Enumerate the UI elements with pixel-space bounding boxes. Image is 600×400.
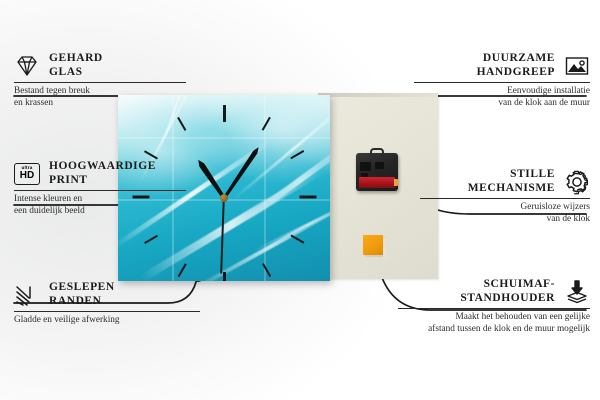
- feature-duurzame-handgreep: DUURZAMEHANDGREEP Eenvoudige installatie…: [414, 52, 590, 109]
- mechanism-slot: [360, 162, 371, 171]
- clock-mechanism: [356, 153, 398, 191]
- gear-icon: [564, 169, 590, 195]
- mechanism-hanger-tab: [370, 148, 384, 156]
- feature-description: Bestand tegen breuken krassen: [14, 86, 186, 109]
- feature-header: SCHUIMAF-STANDHOUDER: [398, 278, 590, 305]
- infographic-canvas: GEHARDGLAS Bestand tegen breuken krassen…: [0, 0, 600, 400]
- diamond-icon: [14, 53, 40, 79]
- diagonal-lines-icon: [14, 282, 40, 308]
- feature-header: GESLEPENRANDEN: [14, 281, 200, 308]
- feature-stille-mechanisme: STILLEMECHANISME Geruisloze wijzersvan d…: [420, 168, 590, 225]
- feature-title: SCHUIMAF-STANDHOUDER: [460, 278, 555, 305]
- feature-divider: [398, 308, 590, 309]
- feature-title: GEHARDGLAS: [49, 52, 103, 79]
- clock-center-cap: [220, 194, 228, 202]
- feature-description: Gladde en veilige afwerking: [14, 315, 200, 327]
- feature-title: DUURZAMEHANDGREEP: [477, 52, 555, 79]
- feature-geslepen-randen: GESLEPENRANDEN Gladde en veilige afwerki…: [14, 281, 200, 327]
- feature-divider: [14, 311, 200, 312]
- mechanism-slot: [375, 162, 384, 169]
- picture-frame-icon: [564, 53, 590, 79]
- feature-description: Maakt het behouden van een gelijkeafstan…: [398, 312, 590, 335]
- ultra-hd-badge-icon: ultra HD: [14, 161, 40, 187]
- feature-title: STILLEMECHANISME: [468, 168, 555, 195]
- feature-divider: [420, 198, 590, 199]
- clock-tick-12: [223, 105, 226, 122]
- feature-description: Eenvoudige installatievan de klok aan de…: [414, 86, 590, 109]
- feature-hoogwaardige-print: ultra HD HOOGWAARDIGEPRINT Intense kleur…: [14, 160, 186, 217]
- feature-divider: [14, 190, 186, 191]
- feature-gehard-glas: GEHARDGLAS Bestand tegen breuken krassen: [14, 52, 186, 109]
- feature-header: ultra HD HOOGWAARDIGEPRINT: [14, 160, 186, 187]
- glass-seam: [118, 137, 330, 139]
- feature-divider: [414, 82, 590, 83]
- foam-spacer: [363, 235, 383, 255]
- feature-schuimafstandhouder: SCHUIMAF-STANDHOUDER Maakt het behouden …: [398, 278, 590, 335]
- feature-title: GESLEPENRANDEN: [49, 281, 115, 308]
- feature-description: Geruisloze wijzersvan de klok: [420, 202, 590, 225]
- feature-description: Intense kleuren eneen duidelijk beeld: [14, 194, 186, 217]
- feature-divider: [14, 82, 186, 83]
- feature-header: DUURZAMEHANDGREEP: [414, 52, 590, 79]
- clock-tick-3: [300, 196, 317, 199]
- feature-header: GEHARDGLAS: [14, 52, 186, 79]
- clock-tick-6: [223, 272, 226, 281]
- battery: [359, 177, 395, 188]
- press-down-pad-icon: [564, 279, 590, 305]
- feature-title: HOOGWAARDIGEPRINT: [49, 160, 156, 187]
- feature-header: STILLEMECHANISME: [420, 168, 590, 195]
